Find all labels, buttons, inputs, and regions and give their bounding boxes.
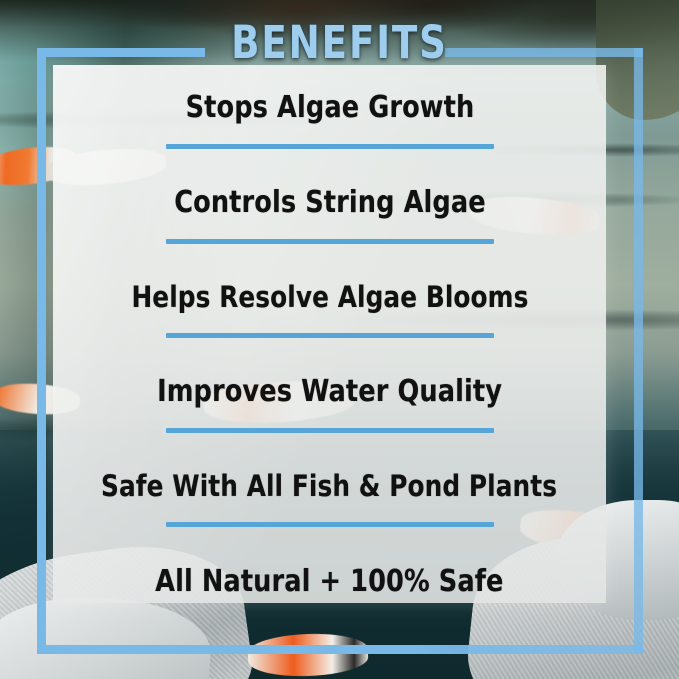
benefit-item-1: Stops Algae Growth (53, 92, 606, 149)
benefit-divider-2 (166, 239, 494, 244)
frame-border-left (37, 48, 46, 654)
benefit-label-5: Safe With All Fish & Pond Plants (101, 471, 557, 501)
frame-border-bottom (37, 645, 643, 654)
benefit-label-6: All Natural + 100% Safe (155, 566, 503, 598)
benefit-label-3: Helps Resolve Algae Blooms (131, 282, 528, 312)
benefit-label-4: Improves Water Quality (157, 376, 502, 408)
frame-border-right (634, 48, 643, 654)
benefit-divider-5 (166, 522, 494, 527)
page-title: BENEFITS (27, 16, 652, 69)
benefit-item-6: All Natural + 100% Safe (53, 566, 606, 598)
benefit-divider-4 (166, 428, 494, 433)
benefit-item-3: Helps Resolve Algae Blooms (53, 282, 606, 337)
benefit-item-5: Safe With All Fish & Pond Plants (53, 471, 606, 526)
benefit-label-2: Controls String Algae (174, 187, 486, 219)
benefit-item-4: Improves Water Quality (53, 376, 606, 433)
benefits-list: Stops Algae Growth Controls String Algae… (53, 92, 606, 597)
benefit-divider-1 (166, 144, 494, 149)
benefit-item-2: Controls String Algae (53, 187, 606, 244)
benefits-poster: BENEFITS Stops Algae Growth Controls Str… (0, 0, 679, 679)
benefit-label-1: Stops Algae Growth (185, 92, 474, 124)
benefit-divider-3 (166, 333, 494, 338)
